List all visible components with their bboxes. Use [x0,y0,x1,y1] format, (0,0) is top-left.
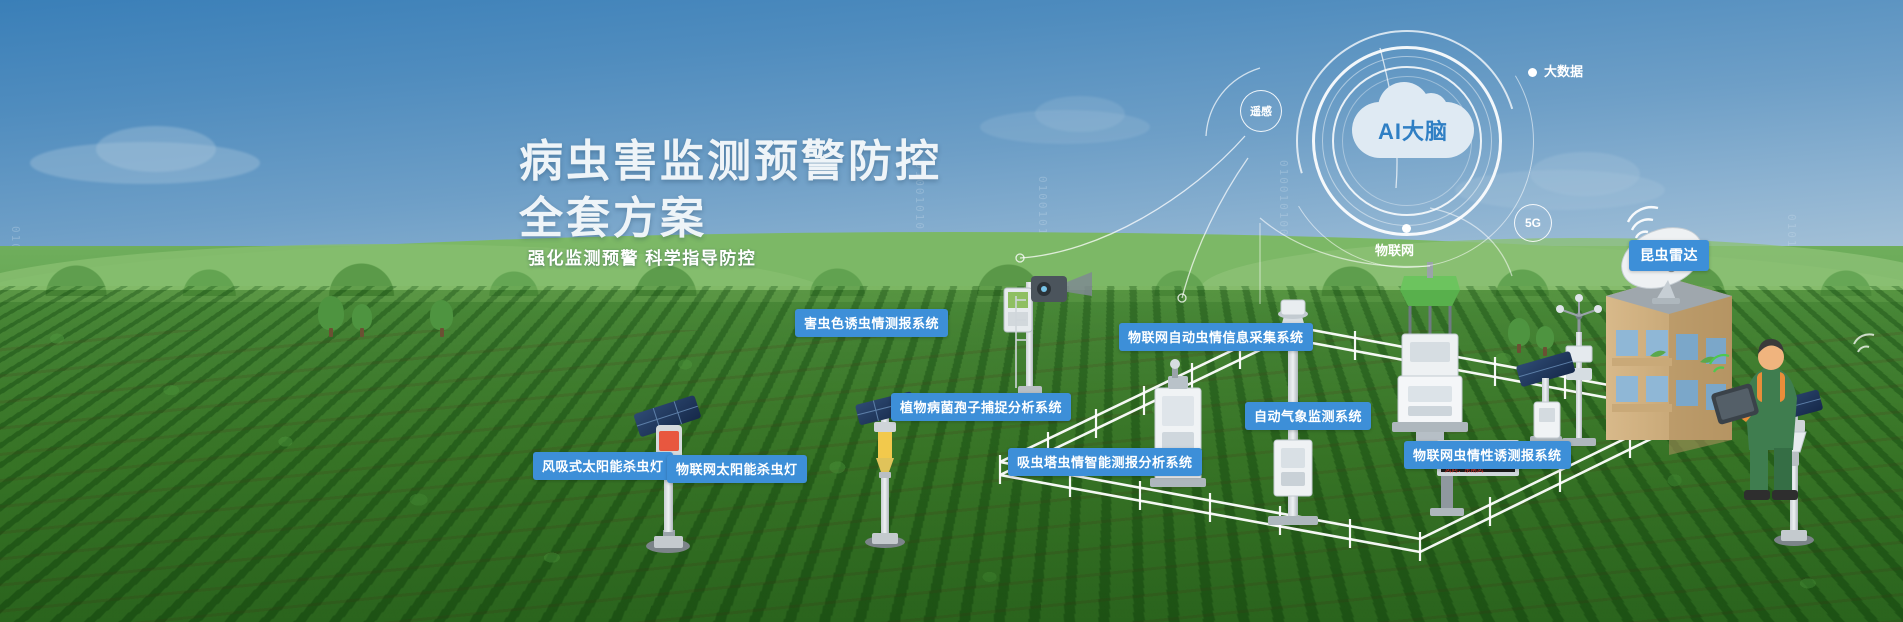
label-wind-suction-solar-lamp[interactable]: 风吸式太阳能杀虫灯 [533,452,673,480]
ai-cloud-icon: AI大脑 [1352,102,1474,158]
label-iot-solar-lamp[interactable]: 物联网太阳能杀虫灯 [667,455,807,483]
node-5g-label: 5G [1525,216,1541,230]
page-title-line-2: 全套方案 [519,190,942,247]
page-title: 病虫害监测预警防控 全套方案 [519,133,942,247]
ai-brain-label: AI大脑 [1378,114,1448,146]
node-big-data-label: 大数据 [1544,61,1583,80]
node-iot-dot [1402,224,1411,233]
label-suction-tower-analysis[interactable]: 吸虫塔虫情智能测报分析系统 [1008,448,1202,476]
node-iot-label: 物联网 [1375,240,1414,259]
label-iot-auto-pest-collection[interactable]: 物联网自动虫情信息采集系统 [1119,323,1313,351]
ai-brain-hub: AI大脑 遥感 5G 大数据 物联网 [1290,28,1610,248]
label-spore-capture-analysis[interactable]: 植物病菌孢子捕捉分析系统 [891,393,1071,421]
page-subtitle: 强化监测预警 科学指导防控 [528,244,756,269]
page-title-line-1: 病虫害监测预警防控 [519,133,942,190]
label-insect-radar[interactable]: 昆虫雷达 [1629,240,1709,271]
label-pest-color-trap-system[interactable]: 害虫色诱虫情测报系统 [795,309,948,337]
device-weather-station[interactable] [1516,294,1602,446]
node-big-data-dot [1528,68,1537,77]
label-auto-weather-monitor[interactable]: 自动气象监测系统 [1245,402,1371,430]
illustration-canvas: 01010010101001010 010010101100101 010010… [0,0,1903,622]
node-remote-sensing-label: 遥感 [1250,103,1272,119]
label-iot-pheromone-trap[interactable]: 物联网虫情性诱测报系统 [1404,441,1571,469]
node-remote-sensing[interactable]: 遥感 [1240,90,1282,132]
node-5g[interactable]: 5G [1514,204,1552,242]
wifi-signal-icon-field [1854,334,1874,352]
